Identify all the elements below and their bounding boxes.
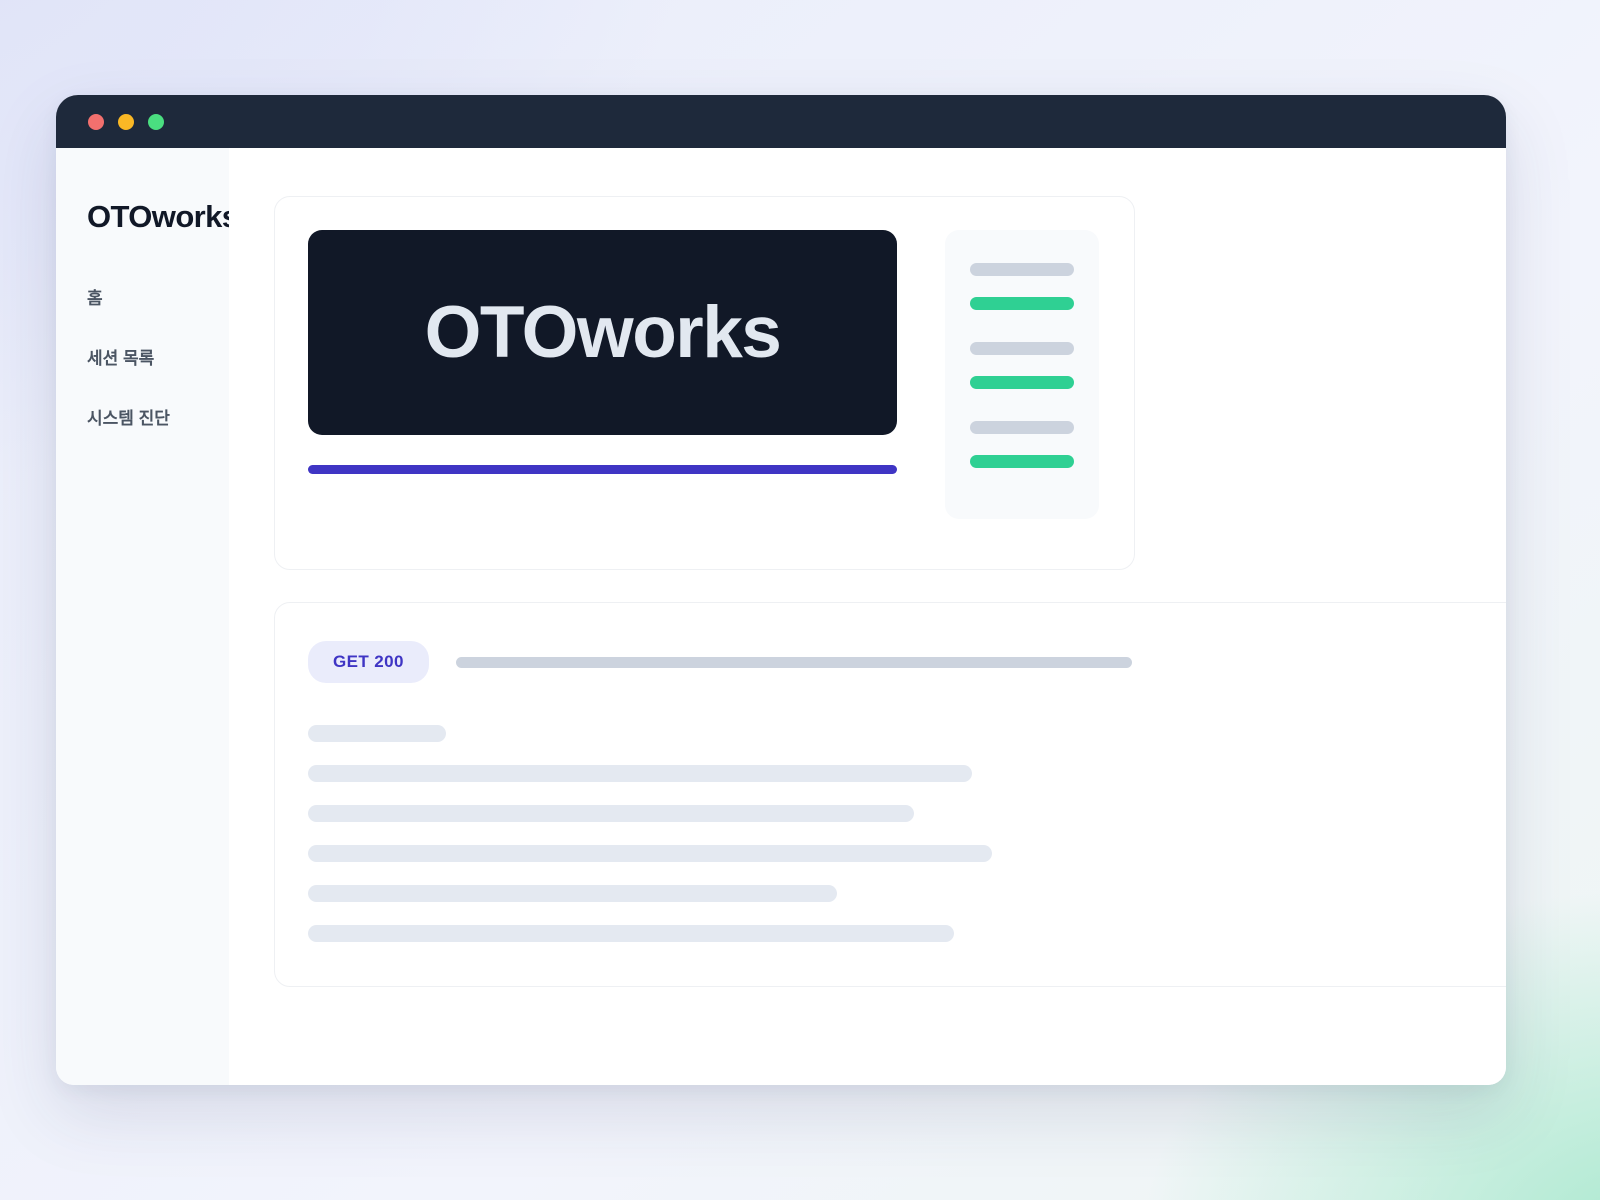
hero-banner: OTOworks xyxy=(308,230,897,435)
app-window: OTOworks 홈 세션 목록 시스템 진단 OTOworks xyxy=(56,95,1506,1085)
close-button[interactable] xyxy=(88,114,104,130)
response-card: GET 200 xyxy=(274,602,1506,987)
status-group xyxy=(970,421,1074,468)
status-placeholder-bar xyxy=(970,421,1074,434)
skeleton-line xyxy=(308,725,446,742)
app-brand-title: OTOworks xyxy=(87,200,229,234)
status-placeholder-bar xyxy=(970,342,1074,355)
hero-card: OTOworks xyxy=(274,196,1135,570)
skeleton-line xyxy=(308,885,837,902)
response-body-skeleton xyxy=(308,725,1506,942)
hero-accent-underline xyxy=(308,465,897,474)
sidebar-item-home[interactable]: 홈 xyxy=(87,284,229,309)
sidebar-nav: 홈 세션 목록 시스템 진단 xyxy=(87,284,229,429)
skeleton-line xyxy=(308,845,992,862)
sidebar-item-system-diagnostics[interactable]: 시스템 진단 xyxy=(87,404,229,429)
status-active-bar xyxy=(970,297,1074,310)
response-header: GET 200 xyxy=(308,641,1506,683)
response-url-placeholder-bar xyxy=(456,657,1132,668)
window-body: OTOworks 홈 세션 목록 시스템 진단 OTOworks xyxy=(56,148,1506,1085)
status-mini-panel xyxy=(945,230,1099,519)
skeleton-line xyxy=(308,765,972,782)
status-badge[interactable]: GET 200 xyxy=(308,641,429,683)
status-group xyxy=(970,342,1074,389)
status-active-bar xyxy=(970,455,1074,468)
hero-title: OTOworks xyxy=(425,291,781,374)
status-placeholder-bar xyxy=(970,263,1074,276)
hero-left-column: OTOworks xyxy=(308,230,897,569)
minimize-button[interactable] xyxy=(118,114,134,130)
sidebar: OTOworks 홈 세션 목록 시스템 진단 xyxy=(56,148,229,1085)
maximize-button[interactable] xyxy=(148,114,164,130)
sidebar-item-session-list[interactable]: 세션 목록 xyxy=(87,344,229,369)
skeleton-line xyxy=(308,925,954,942)
main-content: OTOworks xyxy=(229,148,1506,1085)
skeleton-line xyxy=(308,805,914,822)
status-active-bar xyxy=(970,376,1074,389)
window-titlebar xyxy=(56,95,1506,148)
status-group xyxy=(970,263,1074,310)
